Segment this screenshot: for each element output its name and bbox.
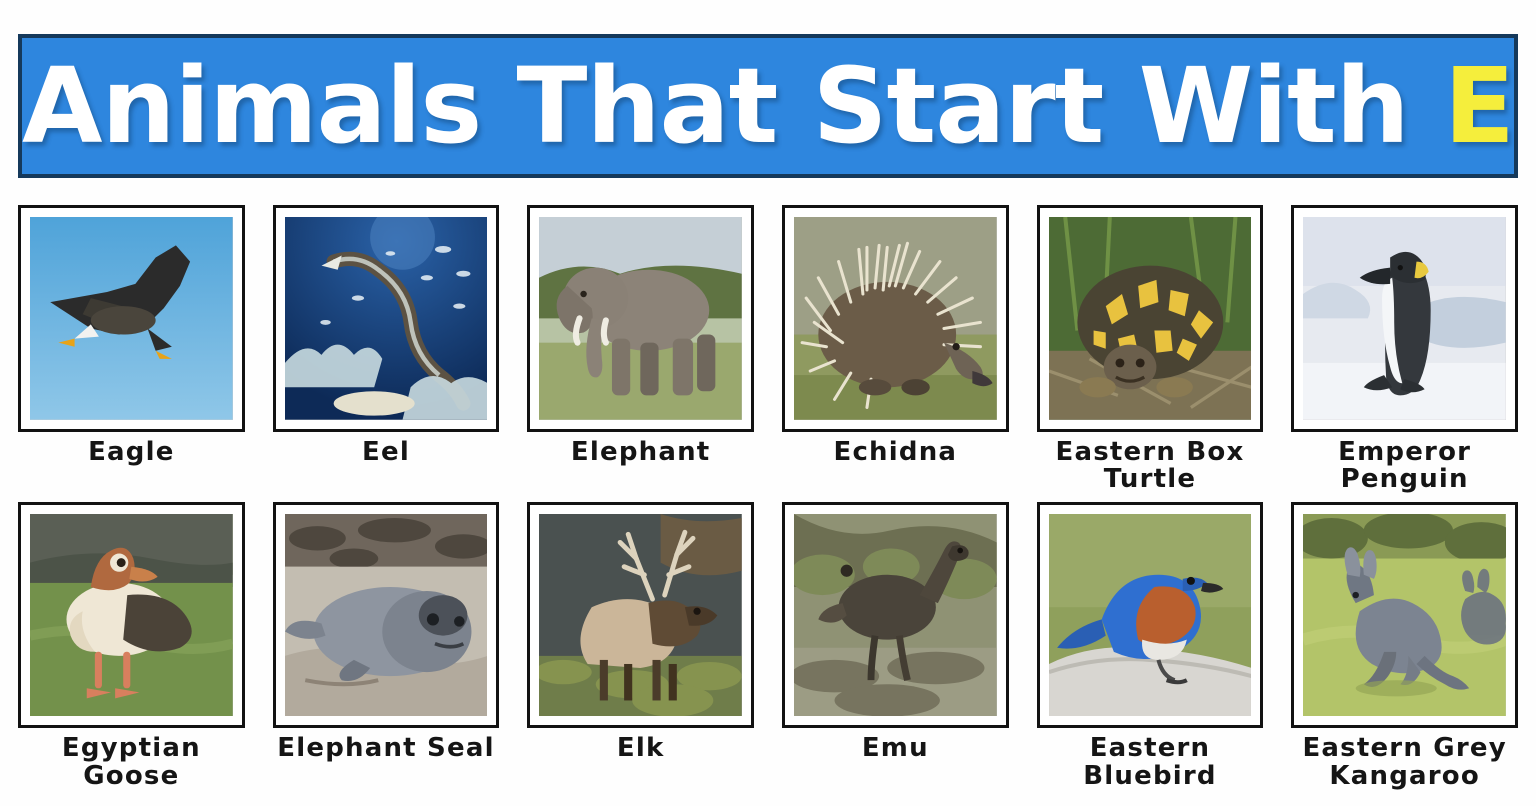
animal-label: Elephant <box>571 439 711 467</box>
animal-label: Eel <box>362 439 410 467</box>
eastern-grey-kangaroo-photo <box>1303 514 1506 717</box>
animal-card[interactable] <box>527 205 754 432</box>
eel-photo <box>285 217 488 420</box>
animal-card[interactable] <box>1037 205 1264 432</box>
animal-cell-eastern-box-turtle[interactable]: Eastern Box Turtle <box>1037 205 1264 494</box>
elephant-photo <box>539 217 742 420</box>
animal-cell-eagle[interactable]: Eagle <box>18 205 245 494</box>
egyptian-goose-photo <box>30 514 233 717</box>
animal-card[interactable] <box>527 502 754 729</box>
animal-label: Eastern Box Turtle <box>1056 439 1245 494</box>
animal-cell-emperor-penguin[interactable]: Emperor Penguin <box>1291 205 1518 494</box>
animal-label: Echidna <box>833 439 957 467</box>
animal-label: Eagle <box>88 439 174 467</box>
animal-label: Egyptian Goose <box>62 735 201 790</box>
elk-photo <box>539 514 742 717</box>
animal-card[interactable] <box>1291 502 1518 729</box>
animal-card[interactable] <box>18 502 245 729</box>
animal-label: Eastern Bluebird <box>1083 735 1216 790</box>
emperor-penguin-photo <box>1303 217 1506 420</box>
animal-label: Emu <box>862 735 929 763</box>
animal-cell-echidna[interactable]: Echidna <box>782 205 1009 494</box>
animal-card[interactable] <box>273 205 500 432</box>
animal-cell-elephant[interactable]: Elephant <box>527 205 754 494</box>
animal-label: Eastern Grey Kangaroo <box>1302 735 1506 790</box>
elephant-seal-photo <box>285 514 488 717</box>
animal-cell-eastern-bluebird[interactable]: Eastern Bluebird <box>1037 502 1264 791</box>
animal-card[interactable] <box>782 502 1009 729</box>
animal-card[interactable] <box>18 205 245 432</box>
animal-card-grid: Eagle <box>18 205 1518 791</box>
page-title-highlight-letter: E <box>1444 45 1514 167</box>
title-banner: Animals That Start With E <box>18 34 1518 178</box>
animal-cell-elk[interactable]: Elk <box>527 502 754 791</box>
animal-card[interactable] <box>782 205 1009 432</box>
page-title: Animals That Start With E <box>22 54 1514 158</box>
animal-label: Elk <box>617 735 665 763</box>
animal-cell-egyptian-goose[interactable]: Egyptian Goose <box>18 502 245 791</box>
animal-cell-emu[interactable]: Emu <box>782 502 1009 791</box>
infographic-page: Animals That Start With E <box>0 0 1536 806</box>
animal-label: Elephant Seal <box>277 735 494 763</box>
page-title-main: Animals That Start With <box>22 45 1444 167</box>
animal-card[interactable] <box>273 502 500 729</box>
eastern-bluebird-photo <box>1049 514 1252 717</box>
animal-cell-elephant-seal[interactable]: Elephant Seal <box>273 502 500 791</box>
animal-cell-eastern-grey-kangaroo[interactable]: Eastern Grey Kangaroo <box>1291 502 1518 791</box>
emu-photo <box>794 514 997 717</box>
animal-card[interactable] <box>1291 205 1518 432</box>
animal-card[interactable] <box>1037 502 1264 729</box>
animal-label: Emperor Penguin <box>1338 439 1471 494</box>
animal-cell-eel[interactable]: Eel <box>273 205 500 494</box>
eastern-box-turtle-photo <box>1049 217 1252 420</box>
eagle-photo <box>30 217 233 420</box>
echidna-photo <box>794 217 997 420</box>
